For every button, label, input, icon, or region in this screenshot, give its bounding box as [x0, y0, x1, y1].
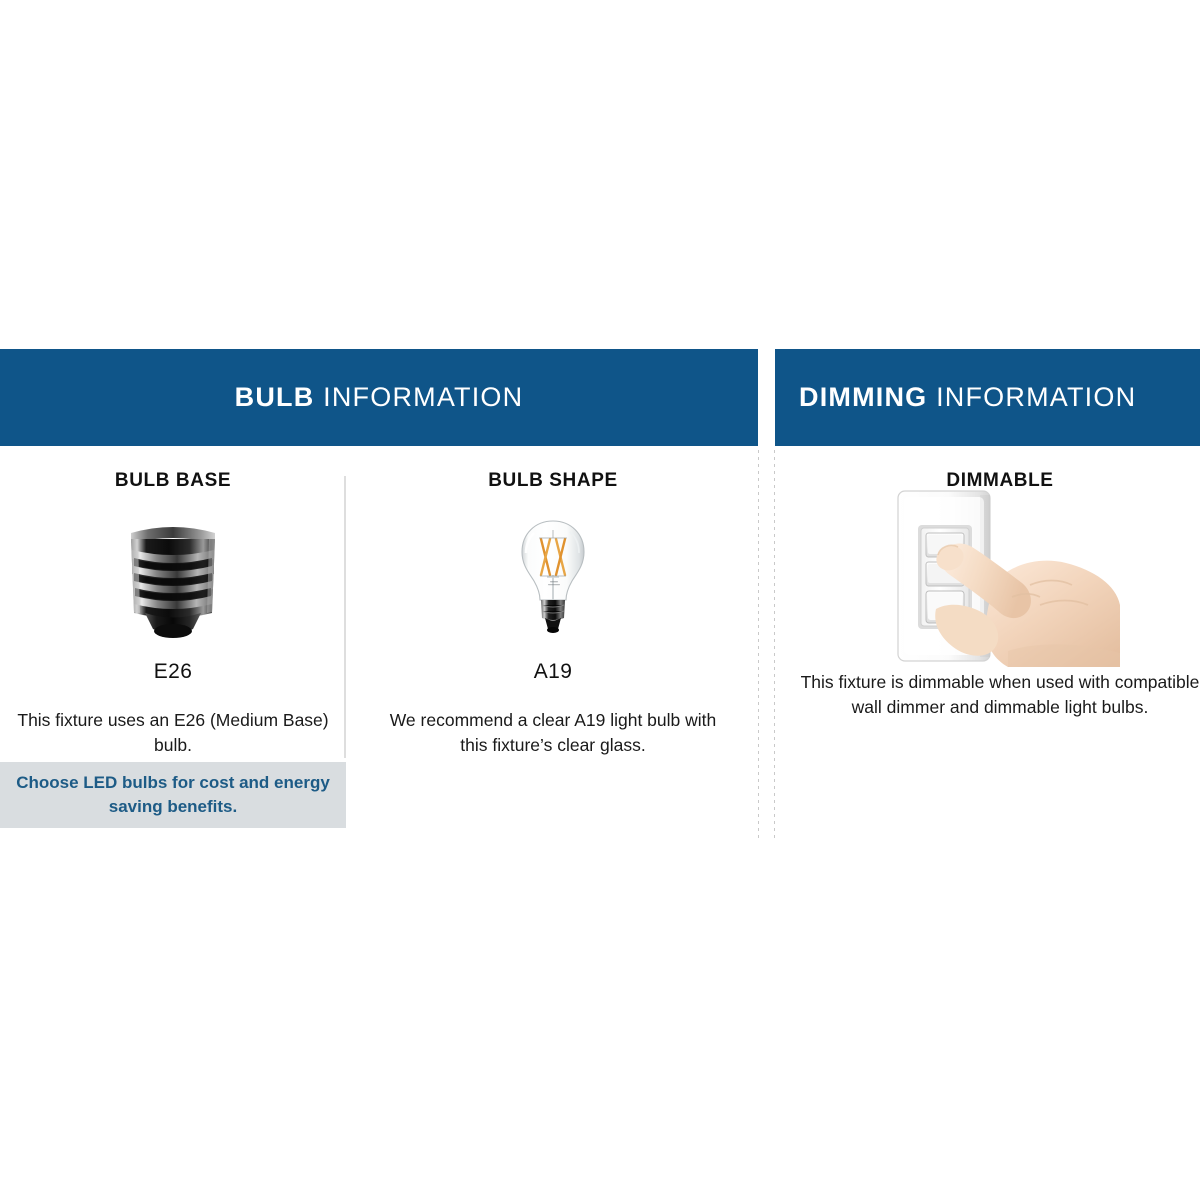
bulb-information-title: BULB INFORMATION — [235, 382, 524, 413]
bulb-base-value: E26 — [8, 660, 338, 684]
bulb-shape-art-slot — [388, 504, 718, 654]
dimmable-art-slot — [800, 504, 1200, 654]
dimmable-description: This fixture is dimmable when used with … — [800, 670, 1200, 721]
dimming-information-title-strong: DIMMING — [799, 382, 927, 412]
wall-dimmer-switch-icon — [880, 481, 1120, 677]
bulb-base-heading: BULB BASE — [8, 470, 338, 492]
bulb-column-divider — [344, 476, 346, 758]
bulb-shape-description: We recommend a clear A19 light bulb with… — [388, 708, 718, 759]
dimming-information-title-rest: INFORMATION — [927, 382, 1136, 412]
bulb-base-art-slot — [8, 504, 338, 654]
bulb-information-title-rest: INFORMATION — [314, 382, 523, 412]
bulb-and-dimming-info-graphic: BULB INFORMATION DIMMING INFORMATION BUL… — [0, 0, 1200, 1200]
panel-divider-dotted-right — [774, 450, 775, 838]
bulb-information-banner: BULB INFORMATION — [0, 349, 758, 446]
led-tip-callout: Choose LED bulbs for cost and energy sav… — [0, 762, 346, 828]
dimmable-column: DIMMABLE — [800, 470, 1200, 721]
bulb-shape-heading: BULB SHAPE — [388, 470, 718, 492]
bulb-shape-column: BULB SHAPE — [388, 470, 718, 759]
e26-base-icon — [121, 517, 225, 641]
bulb-information-title-strong: BULB — [235, 382, 315, 412]
bulb-base-description: This fixture uses an E26 (Medium Base) b… — [8, 708, 338, 759]
panel-divider-dotted-left — [758, 450, 759, 838]
led-tip-text: Choose LED bulbs for cost and energy sav… — [0, 771, 346, 819]
a19-bulb-icon — [514, 515, 592, 643]
dimming-information-title: DIMMING INFORMATION — [799, 382, 1136, 413]
dimming-information-banner: DIMMING INFORMATION — [775, 349, 1200, 446]
bulb-shape-value: A19 — [388, 660, 718, 684]
bulb-base-column: BULB BASE — [8, 470, 338, 759]
